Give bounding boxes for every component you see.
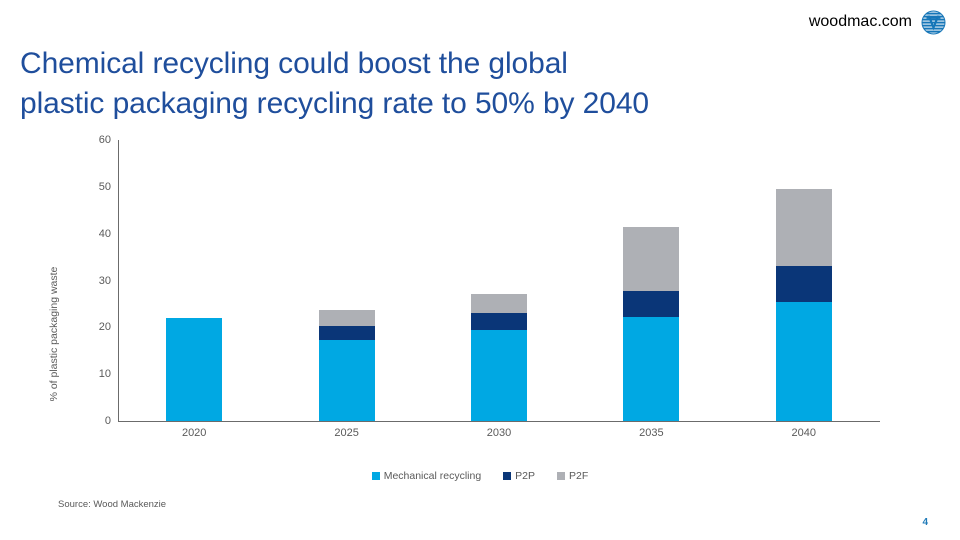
bar-segment[interactable] (623, 227, 679, 291)
bar-segment[interactable] (776, 189, 832, 266)
bar-segment[interactable] (471, 294, 527, 313)
brand-url-text: woodmac.com (809, 13, 912, 31)
bar-segment[interactable] (776, 266, 832, 301)
bar-segment[interactable] (776, 302, 832, 421)
woodmac-circle-logo-icon (921, 10, 946, 35)
x-axis-tick-label: 2040 (792, 427, 816, 439)
bar-segment[interactable] (623, 291, 679, 317)
y-axis-tick-label: 60 (99, 134, 111, 146)
legend-item[interactable]: P2P (503, 470, 535, 482)
stacked-bar[interactable] (623, 227, 679, 421)
chart-legend: Mechanical recyclingP2PP2F (0, 470, 960, 482)
bar-group[interactable]: 2030 (471, 140, 527, 421)
legend-swatch-icon (503, 472, 511, 480)
stacked-bar[interactable] (166, 318, 222, 421)
y-axis-tick-label: 40 (99, 228, 111, 240)
bar-group[interactable]: 2020 (166, 140, 222, 421)
bar-chart: % of plastic packaging waste 01020304050… (0, 130, 960, 490)
y-axis-tick-label: 10 (99, 368, 111, 380)
legend-label: Mechanical recycling (384, 470, 481, 482)
bar-segment[interactable] (319, 340, 375, 421)
bar-segment[interactable] (471, 330, 527, 421)
bar-group[interactable]: 2025 (319, 140, 375, 421)
x-axis-tick-label: 2035 (639, 427, 663, 439)
bar-segment[interactable] (319, 326, 375, 340)
bar-segment[interactable] (319, 310, 375, 325)
bar-group[interactable]: 2035 (623, 140, 679, 421)
legend-swatch-icon (372, 472, 380, 480)
legend-label: P2P (515, 470, 535, 482)
brand-bar: woodmac.com (809, 8, 946, 36)
source-note: Source: Wood Mackenzie (58, 499, 166, 510)
stacked-bar[interactable] (776, 189, 832, 421)
stacked-bar[interactable] (319, 310, 375, 421)
bar-group[interactable]: 2040 (776, 140, 832, 421)
bar-segment[interactable] (623, 317, 679, 421)
page-number: 4 (922, 517, 928, 528)
legend-item[interactable]: P2F (557, 470, 588, 482)
y-axis-tick-label: 30 (99, 275, 111, 287)
y-axis-tick-label: 20 (99, 321, 111, 333)
plot-area: 0102030405060 20202025203020352040 (118, 140, 880, 421)
stacked-bar[interactable] (471, 294, 527, 421)
bar-segment[interactable] (471, 313, 527, 330)
x-axis-tick-label: 2030 (487, 427, 511, 439)
y-axis-title: % of plastic packaging waste (48, 244, 60, 424)
y-axis-line (118, 140, 119, 421)
legend-label: P2F (569, 470, 588, 482)
legend-swatch-icon (557, 472, 565, 480)
page-title: Chemical recycling could boost the globa… (20, 44, 850, 124)
y-axis-tick-label: 0 (105, 415, 111, 427)
bar-segment[interactable] (166, 318, 222, 421)
y-axis-tick-label: 50 (99, 181, 111, 193)
x-axis-line (118, 421, 880, 422)
x-axis-tick-label: 2020 (182, 427, 206, 439)
legend-item[interactable]: Mechanical recycling (372, 470, 481, 482)
x-axis-tick-label: 2025 (334, 427, 358, 439)
